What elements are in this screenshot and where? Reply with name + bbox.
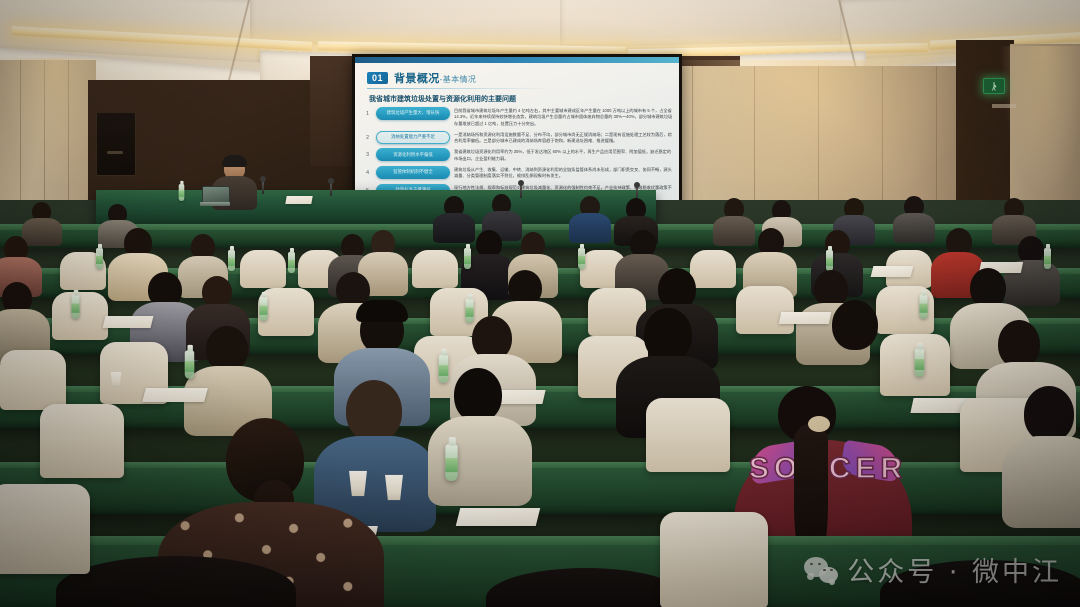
table-row <box>0 462 1080 514</box>
slide-row-pill: 建筑垃圾产生量大、增长快 <box>376 107 450 120</box>
slide-header: 01 背景概况-基本情况 <box>367 70 476 86</box>
chair-cover <box>0 484 90 574</box>
handout-paper <box>285 196 312 204</box>
water-bottle <box>919 294 927 318</box>
chair-cover <box>52 292 108 340</box>
slide-title-suffix: -基本情况 <box>440 75 477 84</box>
slide-row-index: 2 <box>363 131 372 141</box>
slide-section-number: 01 <box>367 72 388 84</box>
slide-row-body: 我省建筑垃圾资源化利用率约为 35%，低于发达地区 60% 以上的水平，再生产品… <box>454 148 673 162</box>
chair-cover <box>646 398 730 472</box>
chair-cover <box>736 286 794 334</box>
water-bottle <box>71 294 79 318</box>
water-bottle <box>445 444 457 481</box>
chair-cover <box>690 250 736 288</box>
slide-row-pill: 监管体制机制不健全 <box>376 166 450 179</box>
slide-row-body: 建筑垃圾从产生、收集、运输、中转、消纳到资源化利用的全链条监管体系尚未形成，部门… <box>454 166 673 180</box>
water-bottle <box>185 350 194 378</box>
slide-title-main: 背景概况 <box>394 73 440 85</box>
slide-row: 2 消纳处置能力严重不足 一是消纳场所和资源化利用设施数量不足、分布不均，部分城… <box>363 131 673 145</box>
handout-paper <box>142 388 208 402</box>
slide-row: 3 资源化利用水平偏低 我省建筑垃圾资源化利用率约为 35%，低于发达地区 60… <box>363 148 673 162</box>
handout-paper <box>456 508 540 526</box>
microphone-icon <box>262 180 264 194</box>
slide-row-body: 目前我省城市建筑垃圾年产生量约 4 亿吨左右，其中主要城市建成区年产生量在 10… <box>454 107 673 127</box>
slide-row-pill: 消纳处置能力严重不足 <box>376 131 450 144</box>
slide-row-index: 4 <box>363 166 372 176</box>
slide-row-index: 3 <box>363 148 372 158</box>
chair-cover <box>660 512 768 607</box>
slide-title: 背景概况-基本情况 <box>394 70 476 86</box>
slide-row-body: 一是消纳场所和资源化利用设施数量不足、分布不均，部分城市尚无正规消纳场；二是现有… <box>454 131 673 145</box>
water-bottle <box>465 298 473 322</box>
loudspeaker-icon <box>96 112 136 176</box>
water-bottle <box>179 184 185 201</box>
conference-room-photo: 01 背景概况-基本情况 我省城市建筑垃圾处置与资源化利用的主要问题 1 建筑垃… <box>0 0 1080 607</box>
slide-row: 4 监管体制机制不健全 建筑垃圾从产生、收集、运输、中转、消纳到资源化利用的全链… <box>363 166 673 180</box>
chair-cover <box>240 250 286 288</box>
water-bottle <box>439 354 448 382</box>
water-bottle <box>826 250 833 271</box>
chair-cover <box>412 250 458 288</box>
water-bottle <box>228 250 235 271</box>
soccer-jacket-text: SOCCER <box>744 452 912 486</box>
handout-paper <box>779 312 832 324</box>
water-bottle <box>259 296 267 320</box>
microphone-icon <box>330 182 332 196</box>
microphone-icon <box>520 184 522 198</box>
water-bottle <box>1044 248 1051 269</box>
handout-paper <box>871 266 914 277</box>
water-bottle <box>578 248 585 269</box>
slide-row: 1 建筑垃圾产生量大、增长快 目前我省城市建筑垃圾年产生量约 4 亿吨左右，其中… <box>363 107 673 127</box>
wall-sign <box>992 104 1016 108</box>
slide-title-rule <box>367 88 553 89</box>
presenter-laptop <box>200 186 230 206</box>
water-bottle <box>915 348 924 376</box>
handout-paper <box>103 316 154 328</box>
chair-cover <box>0 350 66 410</box>
slide-top-accent-bar <box>355 57 679 63</box>
chair-cover <box>40 404 124 478</box>
slide-row-index: 1 <box>363 107 372 117</box>
slide-lead-line: 我省城市建筑垃圾处置与资源化利用的主要问题 <box>369 94 516 104</box>
water-bottle <box>96 248 103 269</box>
exit-sign-icon <box>983 78 1005 94</box>
water-bottle <box>464 248 471 269</box>
slide-row-pill: 资源化利用水平偏低 <box>376 148 450 161</box>
water-bottle <box>288 252 295 273</box>
